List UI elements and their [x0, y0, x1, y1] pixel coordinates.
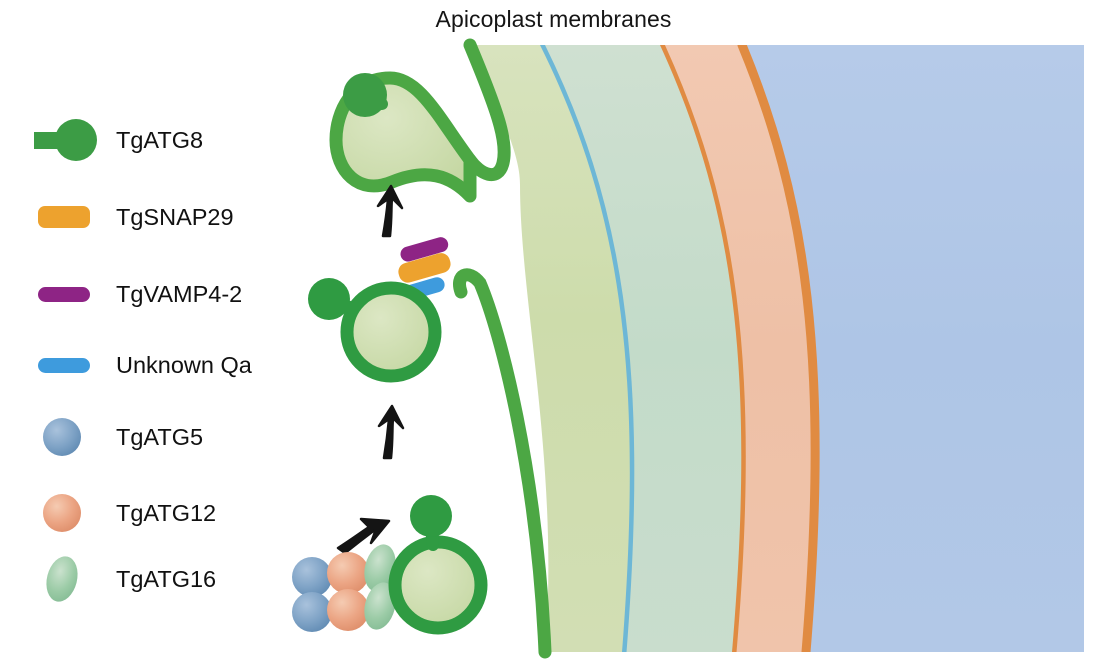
- fusing-vesicle-top[interactable]: [336, 73, 470, 196]
- legend-label-atg16: TgATG16: [116, 566, 216, 593]
- atg12-unit: [327, 552, 369, 594]
- atg5-atg12-atg16-complex[interactable]: [292, 541, 400, 633]
- legend-item-atg5[interactable]: TgATG5: [28, 411, 203, 463]
- legend-label-snap29: TgSNAP29: [116, 204, 234, 231]
- atg5-icon: [28, 411, 106, 463]
- legend-label-atg12: TgATG12: [116, 500, 216, 527]
- legend-item-atg16[interactable]: TgATG16: [28, 553, 216, 605]
- atg12-icon: [28, 487, 106, 539]
- legend-item-atg12[interactable]: TgATG12: [28, 487, 216, 539]
- nascent-vesicle-bottom[interactable]: [395, 495, 481, 628]
- atg8-lipidated-icon: [28, 114, 106, 166]
- legend-label-atg8: TgATG8: [116, 127, 203, 154]
- arrow-to-docking: [379, 406, 403, 458]
- legend-label-atg5: TgATG5: [116, 424, 203, 451]
- atg5-unit: [292, 592, 332, 632]
- atg12-unit: [327, 589, 369, 631]
- atg16-icon: [28, 553, 106, 605]
- docked-vesicle-middle[interactable]: [308, 278, 435, 376]
- legend-item-snap29[interactable]: TgSNAP29: [28, 191, 234, 243]
- snap29-icon: [28, 191, 106, 243]
- legend-item-vamp42[interactable]: TgVAMP4-2: [28, 268, 242, 320]
- atg8-nub-top: [343, 73, 387, 117]
- arrow-to-fusion: [378, 186, 402, 236]
- vamp4-2-icon: [28, 268, 106, 320]
- legend-label-unknown-qa: Unknown Qa: [116, 352, 252, 379]
- figure-canvas: Apicoplast membranes: [0, 0, 1107, 665]
- legend-item-atg8[interactable]: TgATG8: [28, 114, 203, 166]
- unknown-qa-icon: [28, 339, 106, 391]
- legend-item-unknown-qa[interactable]: Unknown Qa: [28, 339, 252, 391]
- legend-label-vamp42: TgVAMP4-2: [116, 281, 242, 308]
- atg5-unit: [292, 557, 332, 597]
